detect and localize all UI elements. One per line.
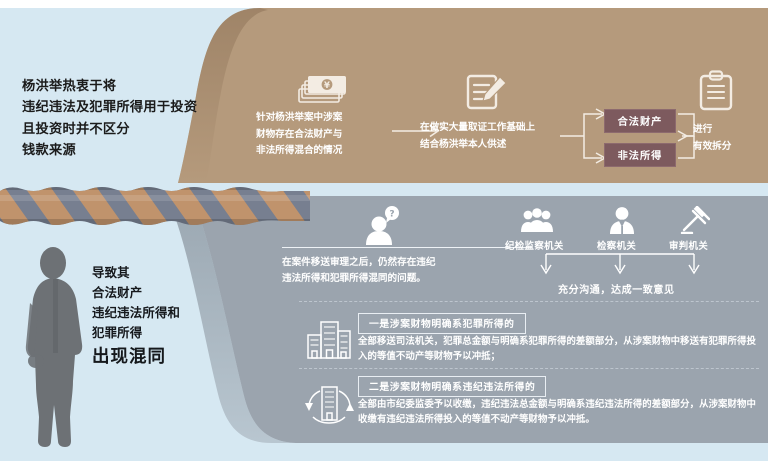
gray-question-text: 在案件移送审理之后，仍然存在违纪 违法所得和犯罪所得混同的问题。	[282, 255, 532, 287]
prosecutor-person-icon	[608, 206, 636, 234]
lead-statement: 导致其 合法财产 违纪违法所得和 犯罪所得 出现混同	[92, 243, 267, 391]
chip-illegal-gains: 非法所得	[604, 143, 676, 167]
infographic-canvas: 杨洪举热衷于将 违纪违法及犯罪所得用于投资 且投资时并不区分 钱款来源 导致其 …	[0, 0, 768, 469]
banknote-stack-icon: ¥	[296, 72, 350, 108]
gavel-icon	[680, 206, 710, 234]
group-people-icon	[520, 208, 554, 234]
person-silhouette	[18, 245, 98, 450]
document-pencil-icon	[464, 72, 510, 112]
consensus-connector	[530, 250, 710, 280]
brown-step-2-text: 在做实大量取证工作基础上 结合杨洪举本人供述	[420, 120, 575, 153]
brown-step-1-text: 针对杨洪举案中涉案 财物存在合法财产与 非法所得混合的情况	[256, 110, 406, 160]
page-title: 杨洪举热衷于将 违纪违法及犯罪所得用于投资 且投资时并不区分 钱款来源	[22, 76, 252, 162]
item-1-body: 全部移送司法机关，犯罪总金额与明确系犯罪所得的差额部分，从涉案财物中移送有犯罪所…	[358, 334, 758, 365]
lead-statement-emphasis: 出现混同	[92, 344, 267, 370]
svg-text:?: ?	[389, 210, 394, 220]
divider-dashed-bottom	[299, 368, 759, 369]
question-underline	[282, 247, 532, 248]
building-recycle-icon	[304, 381, 354, 425]
divider-dashed-top	[299, 301, 759, 302]
lead-statement-small: 导致其 合法财产 违纪违法所得和 犯罪所得	[92, 265, 180, 340]
rope-graphic	[0, 185, 310, 227]
item-2-heading: 二是涉案财物明确系违纪违法所得的	[358, 376, 546, 397]
consensus-text: 充分沟通，达成一致意见	[558, 281, 675, 296]
brown-step-3-text: 进行 有效拆分	[693, 122, 763, 155]
svg-text:¥: ¥	[324, 81, 330, 91]
item-2-body: 全部由市纪委监委予以收缴，违纪违法总金额与明确系违纪违法所得的差额部分，从涉案财…	[358, 397, 758, 428]
chip-legal-property: 合法财产	[604, 109, 676, 133]
buildings-icon	[306, 318, 352, 360]
person-question-icon: ?	[360, 206, 402, 248]
item-1-heading: 一是涉案财物明确系犯罪所得的	[358, 313, 526, 334]
